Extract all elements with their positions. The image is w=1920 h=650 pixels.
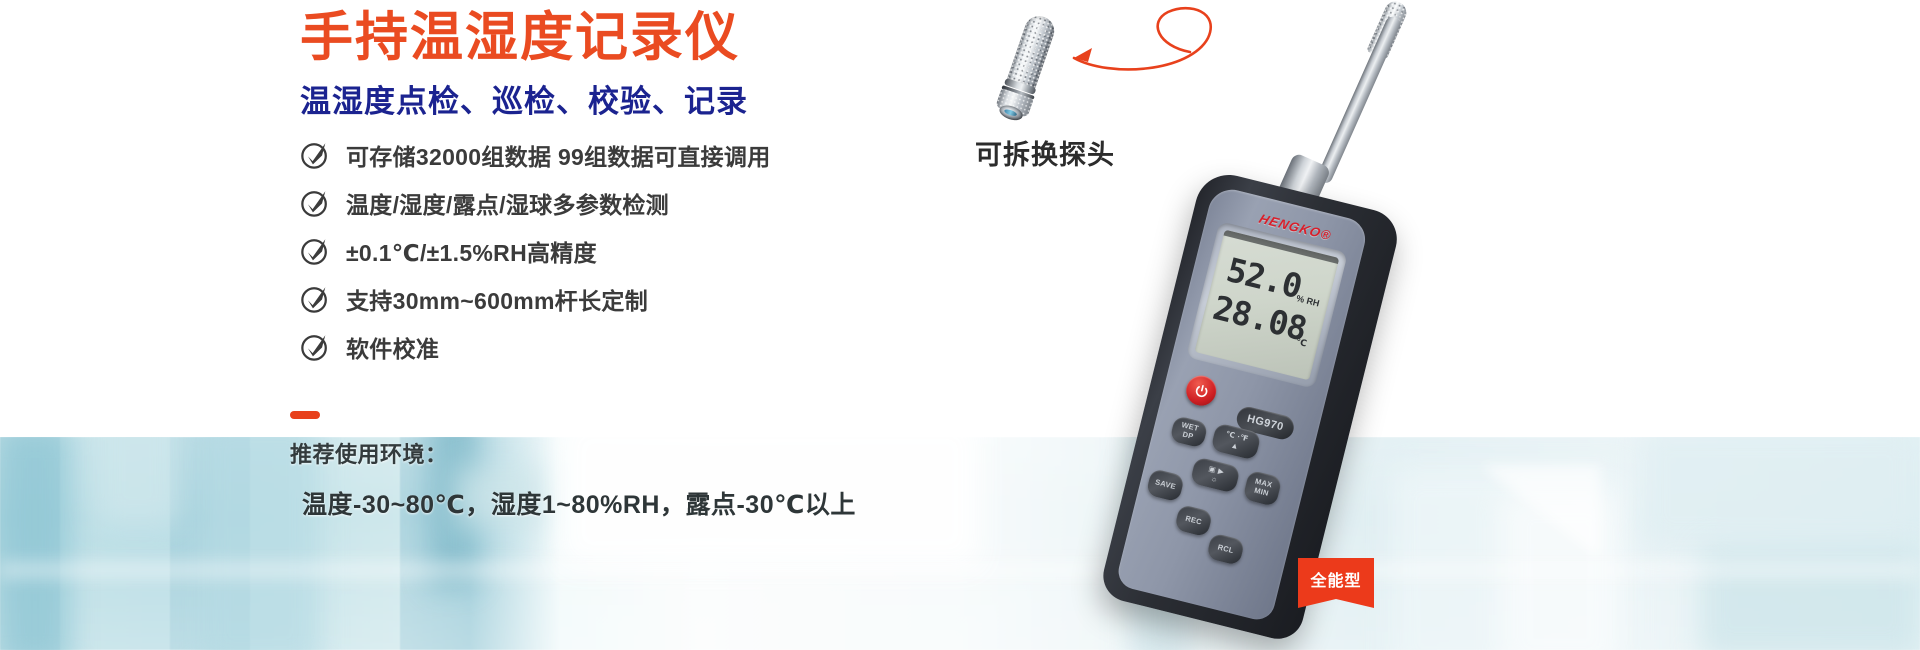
feature-text: 软件校准 <box>346 330 439 364</box>
button-backlight[interactable]: ▣ ▶ ☼ <box>1190 456 1241 493</box>
headline-block: 手持温湿度记录仪 温湿度点检、巡检、校验、记录 <box>300 6 1020 120</box>
power-button[interactable] <box>1183 372 1219 408</box>
button-rec[interactable]: REC <box>1174 504 1213 537</box>
button-rcl[interactable]: RCL <box>1206 533 1245 566</box>
lcd-screen: 52.0 % RH 28.08 ℃ <box>1194 230 1339 381</box>
temperature-unit: ℃ <box>1295 336 1308 349</box>
key-line-2: MIN <box>1253 487 1269 499</box>
environment-value: 温度-30~80℃，湿度1~80%RH，露点-30℃以上 <box>290 485 1050 521</box>
feature-text: 支持30mm~600mm杆长定制 <box>346 282 648 316</box>
list-item: 可存储32000组数据 99组数据可直接调用 <box>300 131 1060 179</box>
check-circle-icon <box>300 284 330 314</box>
check-circle-icon <box>300 188 330 218</box>
probe-stem <box>1316 15 1403 186</box>
key-line-2: DP <box>1181 431 1194 442</box>
list-item: 软件校准 <box>300 323 1060 371</box>
product-device-image: HENGKO® 52.0 % RH 28.08 ℃ <box>1130 8 1550 648</box>
button-save[interactable]: SAVE <box>1146 468 1186 502</box>
button-max-min[interactable]: MAX MIN <box>1242 470 1282 507</box>
list-item: 支持30mm~600mm杆长定制 <box>300 275 1060 323</box>
key-line-1: SAVE <box>1154 479 1177 492</box>
key-line-1: REC <box>1184 514 1202 526</box>
button-wet-dp[interactable]: WET DP <box>1169 415 1208 448</box>
power-icon <box>1192 382 1210 400</box>
list-item: ±0.1℃/±1.5%RH高精度 <box>300 227 1060 275</box>
band-shape <box>1640 437 1920 547</box>
band-shape <box>0 437 70 650</box>
band-shape <box>95 437 180 527</box>
divider-dash <box>290 411 320 419</box>
feature-text: 可存储32000组数据 99组数据可直接调用 <box>346 138 771 172</box>
key-line-1: RCL <box>1217 543 1235 555</box>
environment-text-block: 推荐使用环境： 温度-30~80℃，湿度1~80%RH，露点-30℃以上 <box>290 411 1050 521</box>
page-title: 手持温湿度记录仪 <box>300 6 1020 71</box>
feature-text: 温度/湿度/露点/湿球多参数检测 <box>346 186 669 220</box>
environment-label: 推荐使用环境： <box>290 437 1050 469</box>
device-front-panel: HENGKO® 52.0 % RH 28.08 ℃ <box>1115 185 1370 623</box>
list-item: 温度/湿度/露点/湿球多参数检测 <box>300 179 1060 227</box>
band-floor-highlight <box>0 557 1920 583</box>
check-circle-icon <box>300 332 330 362</box>
feature-text: ±0.1℃/±1.5%RH高精度 <box>346 234 597 268</box>
status-badge-label: 全能型 <box>1310 567 1361 591</box>
product-banner: 手持温湿度记录仪 温湿度点检、巡检、校验、记录 可存储32000组数据 99组数… <box>0 0 1920 650</box>
key-line-2: ☼ <box>1210 474 1219 484</box>
probe-label: 可拆换探头 <box>975 133 1115 172</box>
check-circle-icon <box>300 140 330 170</box>
feature-list: 可存储32000组数据 99组数据可直接调用 温度/湿度/露点/湿球多参数检测 … <box>300 131 1060 371</box>
check-circle-icon <box>300 236 330 266</box>
humidity-unit: % RH <box>1295 293 1320 308</box>
page-subtitle: 温湿度点检、巡检、校验、记录 <box>300 83 1020 120</box>
lcd-bezel: 52.0 % RH 28.08 ℃ <box>1186 221 1348 389</box>
key-line-2: ▲ <box>1230 440 1240 451</box>
